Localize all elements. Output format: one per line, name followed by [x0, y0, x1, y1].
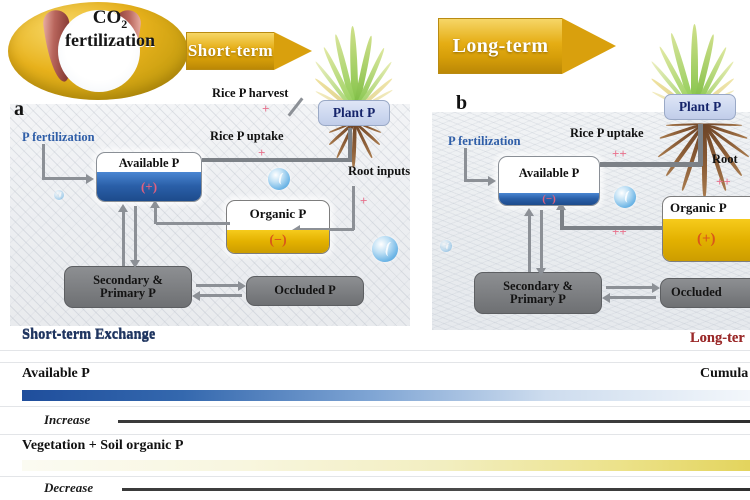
panel-b-fert-arrow-vert: [464, 148, 467, 182]
panel-b-sec-to-occ-head: [652, 283, 660, 293]
panel-b-uptake-arrow: [600, 162, 702, 167]
panel-a-p-fertilization-label: P fertilization: [22, 130, 95, 145]
panel-b-available-p-fill: (−): [499, 193, 599, 205]
panel-a-organic-p-box[interactable]: Organic P (−): [226, 200, 330, 254]
panel-b-org-to-avail-arrow-h: [560, 226, 666, 230]
legend-decrease-label: Decrease: [44, 480, 93, 496]
panel-a-root-inputs-label: Root inputs: [348, 164, 410, 179]
panel-b-available-p-sign: (−): [542, 193, 556, 205]
panel-b-p-fertilization-label: P fertilization: [448, 134, 521, 149]
panel-a-available-p-label-wrap: Available P: [97, 153, 201, 173]
legend-available-p-gradient-bar: [22, 390, 750, 401]
fertilization-text: fertilization: [40, 31, 180, 50]
legend-divider-5: [0, 476, 750, 477]
panel-a-occluded-p-box[interactable]: Occluded P: [246, 276, 364, 306]
panel-b-organic-p-box[interactable]: Organic P (+): [662, 196, 750, 262]
panel-a-rice-p-uptake-label: Rice P uptake: [210, 129, 284, 144]
panel-b-uptake-arrow-up: [698, 124, 703, 166]
legend-divider-1: [0, 350, 750, 351]
panel-b-occ-to-sec-head: [602, 293, 610, 303]
panel-a-plus-root-inputs: +: [360, 193, 367, 209]
panel-b-plus-uptake: ++: [612, 146, 627, 162]
panel-b-avail-to-sec-head: [536, 268, 546, 276]
panel-b-root-label: Root: [712, 152, 738, 167]
panel-b-plus-root: ++: [716, 174, 731, 190]
panel-a-org-to-avail-head: [150, 200, 160, 208]
panel-a-org-to-avail-arrow-h: [156, 222, 230, 225]
panel-a-occ-to-sec-head: [192, 291, 200, 301]
short-term-arrow-shaft: Short-term: [186, 32, 274, 70]
panel-a-uptake-arrow: [202, 158, 352, 162]
panel-b-secondary-primary-p-label: Secondary & Primary P: [503, 280, 573, 306]
panel-b-occluded-p-label: Occluded: [671, 286, 722, 299]
panel-b-org-to-avail-arrow-v: [560, 208, 564, 228]
panel-a-avail-to-sec-arrow: [134, 206, 137, 262]
panel-a-plant-p-box[interactable]: Plant P: [318, 100, 390, 126]
panel-a-available-p-fill: (+): [97, 172, 201, 201]
legend-long-term-title: Long-ter: [690, 330, 745, 347]
rice-plant-panel-a: [300, 0, 410, 112]
panel-a-root-input-arrow-v: [352, 186, 355, 230]
short-term-arrow: Short-term: [186, 32, 312, 70]
panel-a-plant-p-label: Plant P: [333, 105, 375, 121]
panel-a-sec-to-occ-head: [238, 281, 246, 291]
co2-fertilization-label: CO2 fertilization: [40, 8, 180, 50]
panel-b-sec-to-avail-arrow: [528, 214, 531, 272]
panel-a-sp-line1: Secondary &: [93, 273, 163, 287]
panel-a-plus-harvest: +: [262, 101, 269, 117]
legend-cumulative-title: Cumula: [700, 366, 748, 382]
long-term-arrow: Long-term: [438, 18, 616, 74]
legend-available-p-title: Available P: [22, 366, 90, 382]
panel-b-available-p-label: Available P: [519, 166, 580, 181]
panel-b-organic-p-fill: (+): [663, 219, 750, 261]
panel-a-secondary-primary-p-label: Secondary & Primary P: [93, 274, 163, 300]
panel-a-sec-to-avail-head: [118, 204, 128, 212]
legend-divider-3: [0, 406, 750, 407]
water-droplet-icon-a1: [268, 168, 290, 190]
short-term-arrow-label: Short-term: [188, 41, 273, 61]
panel-b-available-p-label-wrap: Available P: [499, 157, 599, 189]
co2-subscript: 2: [121, 17, 127, 31]
panel-a-fert-arrow-horiz: [42, 177, 86, 180]
panel-a-occluded-p-label: Occluded P: [274, 284, 335, 297]
legend-short-term-exchange-title: Short-term Exchange: [22, 326, 155, 343]
panel-b-fert-arrow-horiz: [464, 179, 488, 182]
panel-b-sec-to-occ-arrow: [606, 286, 654, 289]
plant-a-canopy: [300, 0, 410, 112]
long-term-arrow-head: [562, 18, 616, 74]
legend-increase-line: [118, 420, 750, 423]
panel-a-org-to-avail-arrow-v: [154, 206, 157, 224]
legend-panel: Short-term Exchange Long-ter Available P…: [0, 350, 750, 500]
panel-a-available-p-sign: (+): [141, 179, 157, 195]
panel-a-avail-to-sec-head: [130, 260, 140, 268]
panel-a-fert-arrow-vert: [42, 144, 45, 180]
panel-b-available-p-box[interactable]: Available P (−): [498, 156, 600, 206]
water-droplet-icon-a2: [372, 236, 398, 262]
legend-decrease-line: [122, 488, 750, 491]
panel-a-organic-p-fill: (−): [227, 230, 329, 253]
panel-b-plant-p-label: Plant P: [679, 99, 721, 115]
legend-divider-2: [0, 362, 750, 363]
panel-a-secondary-primary-p-box[interactable]: Secondary & Primary P: [64, 266, 192, 308]
water-droplet-icon-b1: [614, 186, 636, 208]
panel-a-sec-to-occ-arrow: [196, 284, 240, 287]
panel-b-secondary-primary-p-box[interactable]: Secondary & Primary P: [474, 272, 602, 314]
panel-b-avail-to-sec-arrow: [540, 210, 543, 270]
panel-b-organic-p-label-wrap: Organic P: [663, 197, 750, 219]
legend-vegetation-soil-organic-p-title: Vegetation + Soil organic P: [22, 438, 183, 454]
legend-vegetation-gradient-bar: [22, 460, 750, 471]
co2-text: CO: [93, 7, 122, 28]
panel-b-sp-line2: Primary P: [510, 292, 566, 306]
panel-a-organic-p-label: Organic P: [250, 206, 307, 222]
panel-a-occ-to-sec-arrow: [198, 294, 242, 297]
panel-b-rice-p-uptake-label: Rice P uptake: [570, 126, 644, 141]
panel-a-letter: a: [14, 98, 24, 121]
panel-b-sp-line1: Secondary &: [503, 279, 573, 293]
panel-b-occ-to-sec-arrow: [608, 296, 656, 299]
panel-b-plant-p-box[interactable]: Plant P: [664, 94, 736, 120]
panel-a-sec-to-avail-arrow: [122, 210, 125, 266]
panel-b-sec-to-avail-head: [524, 208, 534, 216]
panel-b-organic-p-sign: (+): [697, 231, 716, 248]
long-term-arrow-label: Long-term: [453, 35, 549, 58]
water-droplet-icon-b2: [440, 240, 452, 252]
panel-a-sp-line2: Primary P: [100, 286, 156, 300]
panel-b-organic-p-label: Organic P: [670, 200, 727, 216]
figure-root: CO2 fertilization Short-term Long-term: [0, 0, 750, 500]
panel-b-occluded-p-box[interactable]: Occluded: [660, 278, 750, 308]
panel-a-rice-p-harvest-label: Rice P harvest: [212, 86, 288, 101]
long-term-arrow-shaft: Long-term: [438, 18, 562, 74]
panel-a-fert-arrow-head: [86, 174, 94, 184]
legend-divider-4: [0, 434, 750, 435]
panel-a-uptake-arrow-up: [348, 128, 352, 160]
panel-a-available-p-box[interactable]: Available P (+): [96, 152, 202, 202]
panel-a-available-p-label: Available P: [119, 156, 180, 171]
panel-a-organic-p-label-wrap: Organic P: [227, 201, 329, 227]
panel-a-organic-p-sign: (−): [269, 233, 286, 249]
panel-b-fert-arrow-head: [488, 176, 496, 186]
water-droplet-icon-a3: [54, 190, 64, 200]
panel-b-letter: b: [456, 92, 467, 115]
legend-increase-label: Increase: [44, 412, 90, 428]
